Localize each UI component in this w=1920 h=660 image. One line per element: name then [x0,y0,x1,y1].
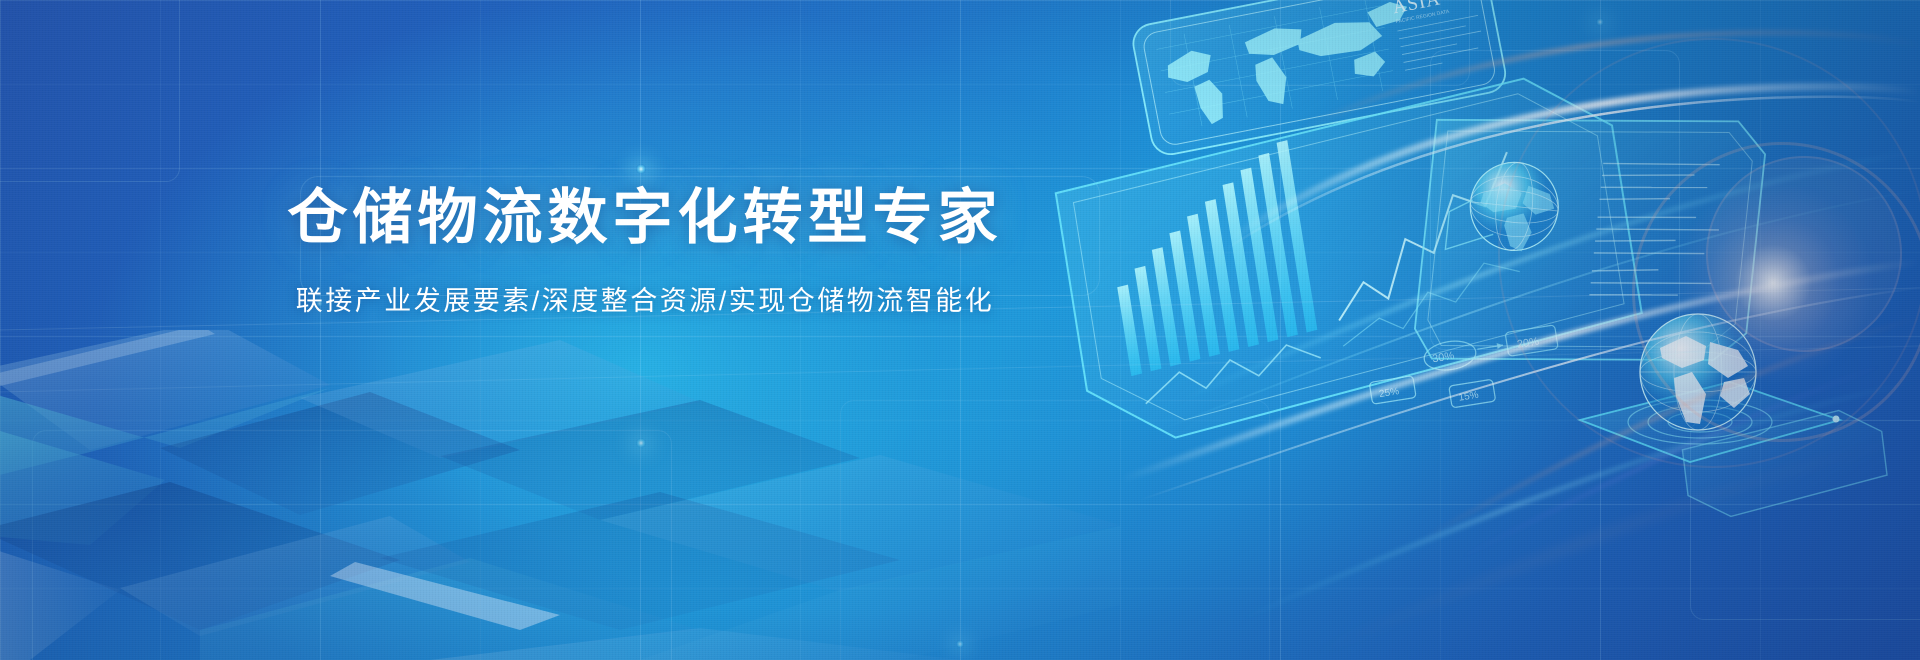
wireframe-panel-small [1680,406,1890,520]
svg-text:25%: 25% [1378,386,1400,400]
decor-rounded-rect [1430,50,1680,350]
world-map-icon [1162,0,1422,131]
grid-node-glow [636,164,646,174]
platform-rings [1628,400,1772,444]
technical-grid-overlay [0,0,1920,660]
page-title: 仓储物流数字化转型专家 [0,186,1290,251]
grid-node-glow [636,438,646,448]
light-streak-ribbons [0,0,1920,660]
svg-text:15%: 15% [1458,390,1480,404]
decor-rounded-rect [1690,420,1920,620]
globe-icon [1640,314,1756,430]
svg-text:30%: 30% [1431,350,1455,365]
decor-rounded-rect [1170,0,1470,86]
faceted-polygon-pattern [0,330,1120,660]
technical-grid-fine [0,0,1920,660]
lens-flare-icon [1668,178,1878,388]
lens-flare-ring [1498,38,1920,468]
decor-rounded-rect [32,430,672,660]
percent-badges: 30% 20% 25% 15% [1365,325,1565,420]
grid-node-glow [956,640,964,648]
text-block-lines [1589,153,1725,308]
globe-text-panel [1412,90,1768,391]
hero-banner: ASIA PACIFIC REGION DATA [0,0,1920,660]
vignette-overlay [0,0,1920,660]
globe-icon [1445,156,1562,261]
page-subtitle: 联接产业发展要素/深度整合资源/实现仓储物流智能化 [0,279,1290,318]
svg-text:20%: 20% [1516,336,1540,351]
globe-platform-panel [1580,314,1840,462]
svg-text:ASIA: ASIA [1391,0,1442,18]
grid-node-glow [1596,18,1604,26]
decor-rounded-rect [840,400,1270,660]
film-grain-texture [0,0,1920,660]
world-map-panel: ASIA PACIFIC REGION DATA [1130,0,1509,158]
banner-copy: 仓储物流数字化转型专家 联接产业发展要素/深度整合资源/实现仓储物流智能化 [0,186,1290,318]
line-chart-icon-secondary [1140,340,1323,404]
svg-text:PACIFIC REGION DATA: PACIFIC REGION DATA [1395,9,1450,25]
lens-flare-bokeh [1706,156,1902,352]
lens-flare-ring [1632,142,1920,442]
line-chart-icon [1317,152,1529,320]
asia-label: ASIA PACIFIC REGION DATA [1391,0,1486,70]
decor-rounded-rect [0,0,180,182]
